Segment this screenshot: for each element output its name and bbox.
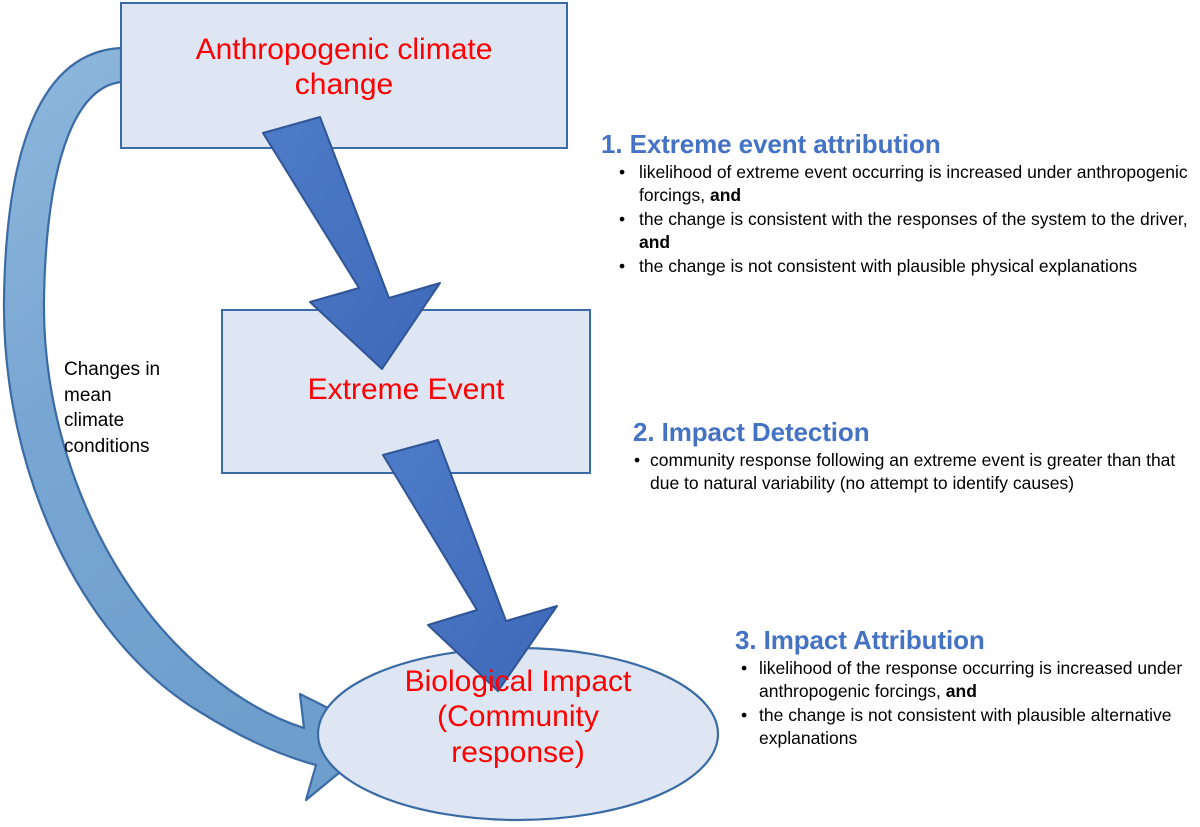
bullet-text: the change is not consistent with plausi… — [759, 704, 1200, 750]
list-item: • the change is not consistent with plau… — [735, 704, 1200, 750]
section-title-impact-detection: 2. Impact Detection — [633, 418, 1200, 447]
section-impact-detection: 2. Impact Detection • community response… — [633, 418, 1200, 496]
section-title-extreme-event-attribution: 1. Extreme event attribution — [601, 130, 1191, 159]
bullet-icon: • — [619, 208, 625, 231]
bullet-list-impact-attribution: • likelihood of the response occurring i… — [735, 657, 1200, 750]
bullet-text: community response following an extreme … — [650, 449, 1200, 495]
bullet-icon: • — [634, 449, 640, 472]
bullet-icon: • — [619, 255, 625, 278]
list-item: • community response following an extrem… — [633, 449, 1200, 495]
section-extreme-event-attribution: 1. Extreme event attribution • likelihoo… — [601, 130, 1191, 279]
section-impact-attribution: 3. Impact Attribution • likelihood of th… — [735, 626, 1200, 751]
bullet-icon: • — [741, 657, 747, 680]
list-item: • likelihood of the response occurring i… — [735, 657, 1200, 703]
section-title-impact-attribution: 3. Impact Attribution — [735, 626, 1200, 655]
bullet-icon: • — [741, 704, 747, 727]
curved-arrow-label-changes-in-mean-climate: Changes in mean climate conditions — [64, 357, 184, 460]
bullet-text: likelihood of the response occurring is … — [759, 657, 1200, 703]
diagram-canvas: Anthropogenic climate change Extreme Eve… — [0, 0, 1200, 827]
node-label-anthropogenic-climate-change: Anthropogenic climate change — [131, 32, 557, 103]
bullet-text: the change is consistent with the respon… — [639, 208, 1191, 254]
bullet-icon: • — [619, 161, 625, 184]
list-item: • the change is not consistent with plau… — [601, 255, 1191, 278]
node-label-biological-impact: Biological Impact (Community response) — [348, 664, 688, 770]
bullet-list-impact-detection: • community response following an extrem… — [633, 449, 1200, 495]
bullet-text: the change is not consistent with plausi… — [639, 255, 1191, 278]
bullet-list-extreme-event-attribution: • likelihood of extreme event occurring … — [601, 161, 1191, 278]
list-item: • the change is consistent with the resp… — [601, 208, 1191, 254]
bullet-text: likelihood of extreme event occurring is… — [639, 161, 1191, 207]
list-item: • likelihood of extreme event occurring … — [601, 161, 1191, 207]
node-label-extreme-event: Extreme Event — [232, 372, 580, 407]
